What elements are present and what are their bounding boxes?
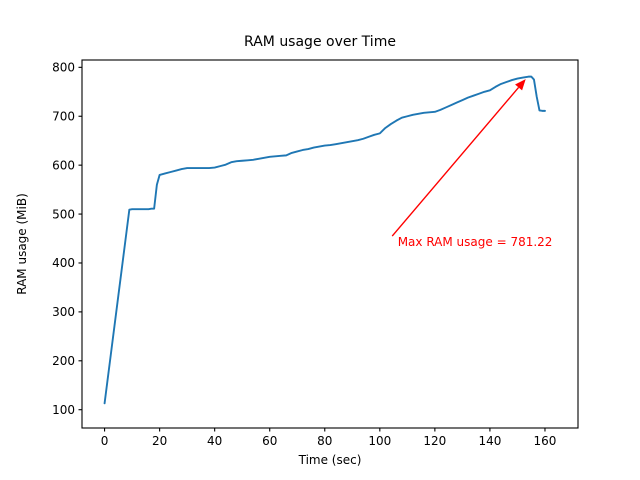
chart-canvas: 020406080100120140160 100200300400500600… bbox=[0, 0, 640, 480]
chart-title: RAM usage over Time bbox=[244, 34, 396, 50]
y-tick-label: 800 bbox=[52, 61, 75, 75]
x-tick-label: 20 bbox=[152, 434, 167, 448]
x-tick-label: 140 bbox=[478, 434, 501, 448]
x-tick-label: 0 bbox=[101, 434, 109, 448]
annotation-arrow-line bbox=[392, 87, 518, 236]
x-tick-label: 100 bbox=[368, 434, 391, 448]
y-tick-label: 300 bbox=[52, 305, 75, 319]
y-tick-label: 200 bbox=[52, 354, 75, 368]
annotation-label: Max RAM usage = 781.22 bbox=[398, 235, 553, 249]
chart-figure: 020406080100120140160 100200300400500600… bbox=[0, 0, 640, 480]
y-tick-label: 600 bbox=[52, 158, 75, 172]
x-tick-label: 40 bbox=[207, 434, 222, 448]
y-tick-label: 100 bbox=[52, 403, 75, 417]
x-tick-label: 160 bbox=[534, 434, 557, 448]
y-axis-title: RAM usage (MiB) bbox=[15, 193, 29, 295]
x-tick-label: 120 bbox=[423, 434, 446, 448]
x-tick-label: 60 bbox=[262, 434, 277, 448]
x-tick-label: 80 bbox=[317, 434, 332, 448]
y-tick-label: 700 bbox=[52, 109, 75, 123]
x-axis-title: Time (sec) bbox=[298, 453, 362, 467]
y-tick-label: 500 bbox=[52, 207, 75, 221]
x-axis-ticks: 020406080100120140160 bbox=[101, 428, 557, 448]
y-tick-label: 400 bbox=[52, 256, 75, 270]
y-axis-ticks: 100200300400500600700800 bbox=[52, 61, 82, 417]
